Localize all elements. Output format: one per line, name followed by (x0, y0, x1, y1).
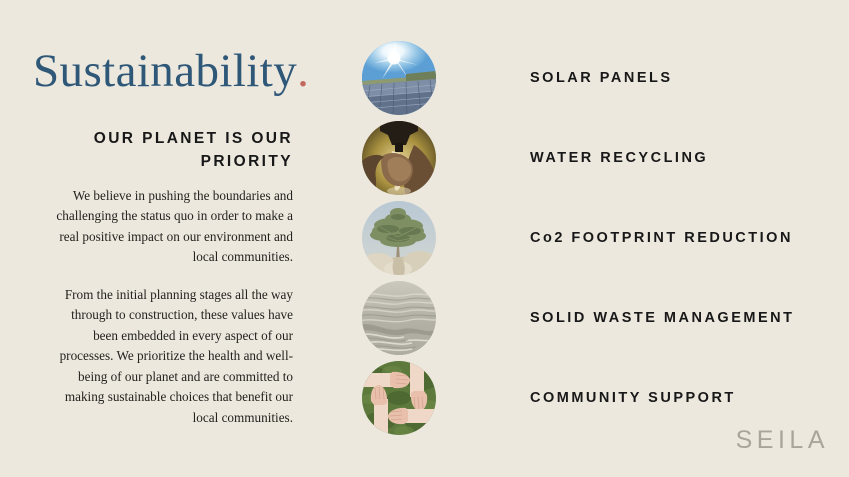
list-item[interactable]: WATER RECYCLING (362, 118, 832, 198)
list-item-label: COMMUNITY SUPPORT (530, 390, 736, 406)
water-waves-photo (362, 281, 436, 355)
list-item-label: Co2 FOOTPRINT REDUCTION (530, 230, 793, 246)
sustainability-item-list: SOLAR PANELS (362, 38, 832, 438)
left-text-column: Sustainability. OUR PLANET IS OUR PRIORI… (0, 0, 320, 477)
subtitle: OUR PLANET IS OUR PRIORITY (40, 127, 293, 174)
list-item-label: SOLID WASTE MANAGEMENT (530, 310, 794, 326)
list-item[interactable]: SOLAR PANELS (362, 38, 832, 118)
page-title-text: Sustainability (33, 45, 297, 97)
list-item[interactable]: Co2 FOOTPRINT REDUCTION (362, 198, 832, 278)
body-paragraph-2: From the initial planning stages all the… (55, 285, 293, 428)
list-item-label: WATER RECYCLING (530, 150, 708, 166)
slide-canvas: Sustainability. OUR PLANET IS OUR PRIORI… (0, 0, 849, 477)
title-accent-dot: . (297, 45, 309, 97)
solar-panels-photo (362, 41, 436, 115)
body-copy: We believe in pushing the boundaries and… (55, 186, 293, 428)
community-hands-photo (362, 361, 436, 435)
list-item[interactable]: SOLID WASTE MANAGEMENT (362, 278, 832, 358)
list-item-label: SOLAR PANELS (530, 70, 673, 86)
body-paragraph-1: We believe in pushing the boundaries and… (55, 186, 293, 268)
water-recycling-photo (362, 121, 436, 195)
brand-logo: SEILA (736, 426, 829, 455)
page-title: Sustainability. (33, 47, 309, 96)
tree-planting-photo (362, 201, 436, 275)
